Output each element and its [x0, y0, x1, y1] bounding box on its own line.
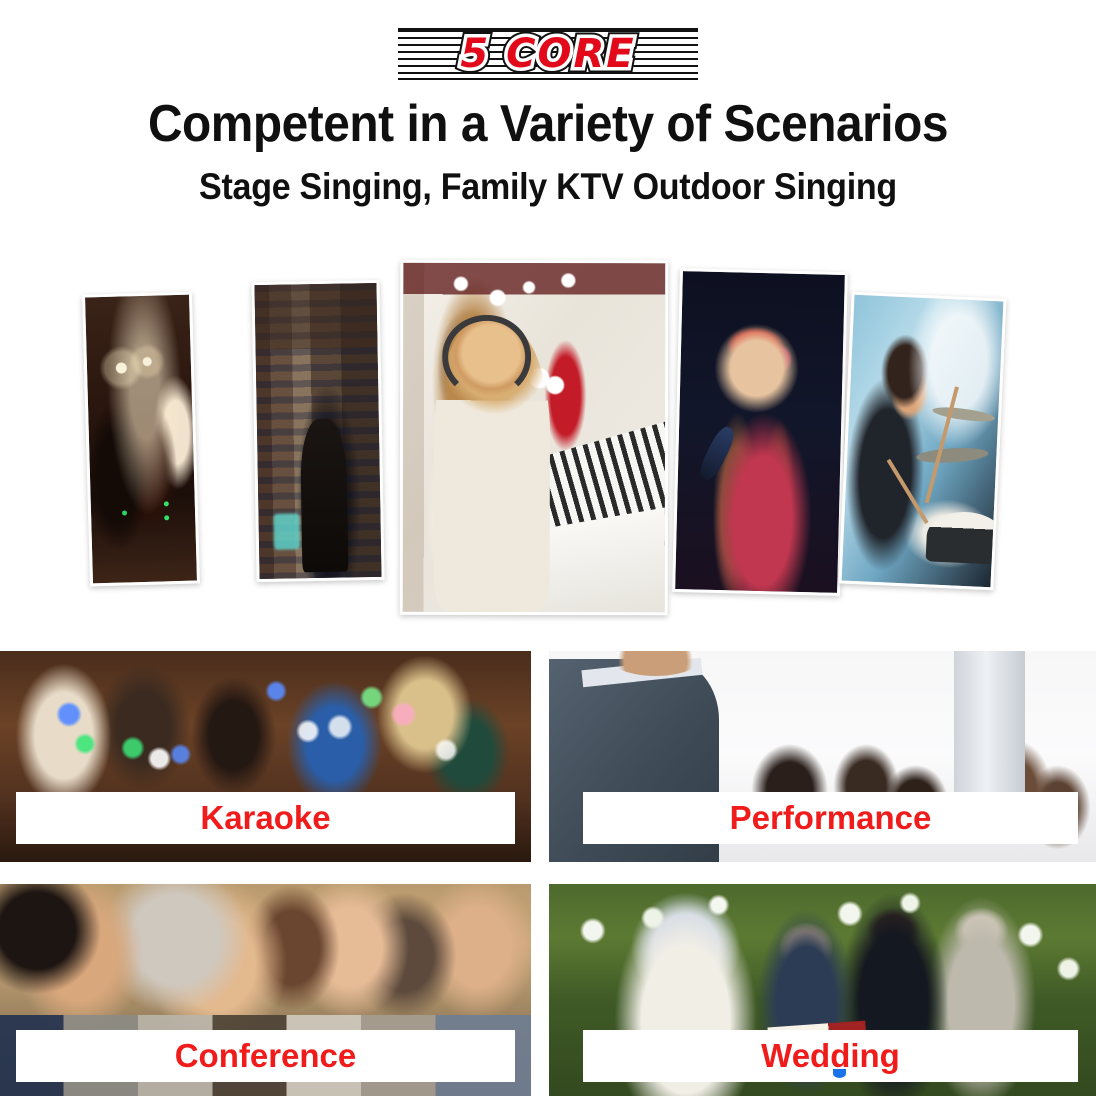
scene-label-bar-conference: Conference [16, 1030, 515, 1082]
scene-karaoke: Karaoke [0, 651, 531, 862]
child-piano-image [403, 263, 666, 612]
page-headline: Competent in a Variety of Scenarios [44, 98, 1052, 150]
page-subheadline: Stage Singing, Family KTV Outdoor Singin… [44, 166, 1052, 208]
auditorium-singer-image [254, 283, 381, 579]
product-infographic-page: 5 CORE 5 CORE 5 CORE Competent in a Vari… [0, 0, 1096, 1096]
scene-label-bar-karaoke: Karaoke [16, 792, 515, 844]
drumstick-right [925, 386, 959, 503]
photo-panel-ballet-stage-performance [82, 292, 200, 587]
scene-conference: Conference [0, 884, 531, 1096]
scene-performance: Performance [549, 651, 1096, 862]
cymbal-lower [916, 446, 988, 465]
scene-label-performance: Performance [730, 799, 932, 837]
scene-label-karaoke: Karaoke [200, 799, 330, 837]
photo-panel-child-piano-headphones [400, 260, 669, 615]
scene-label-wedding: Wedding [761, 1037, 900, 1075]
scene-label-bar-performance: Performance [583, 792, 1078, 844]
cymbal-upper [932, 404, 996, 424]
drummer-image [842, 295, 1004, 587]
hall-pillar [954, 651, 1025, 803]
scene-label-bar-wedding: Wedding [583, 1030, 1078, 1082]
snare-drum [926, 510, 1006, 565]
microphone-icon [696, 423, 739, 483]
headphones-icon [442, 315, 531, 399]
brand-logo: 5 CORE 5 CORE 5 CORE [398, 28, 698, 80]
logo-text-fill: 5 CORE [460, 31, 635, 77]
photo-fan-strip [0, 245, 1096, 640]
scene-grid: Karaoke Performance Conference [0, 651, 1096, 1096]
scene-wedding: Wedding [549, 884, 1096, 1096]
drumstick-left [886, 459, 928, 525]
live-vocalist-image [675, 271, 845, 593]
photo-panel-drummer-stage [838, 292, 1006, 591]
logo-text-stack: 5 CORE 5 CORE 5 CORE [398, 28, 698, 80]
scene-label-conference: Conference [175, 1037, 357, 1075]
ballet-stage-image [85, 295, 197, 584]
photo-panel-auditorium-singer [251, 280, 384, 582]
photo-panel-live-vocalist-bandana [672, 268, 848, 596]
